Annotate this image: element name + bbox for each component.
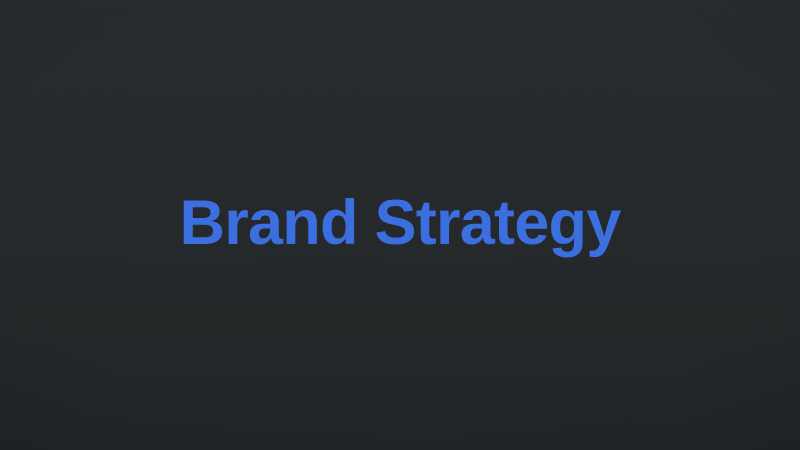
page-title: Brand Strategy <box>0 190 800 257</box>
title-slide: Brand Strategy <box>0 0 800 450</box>
title-block: Brand Strategy <box>0 192 800 259</box>
